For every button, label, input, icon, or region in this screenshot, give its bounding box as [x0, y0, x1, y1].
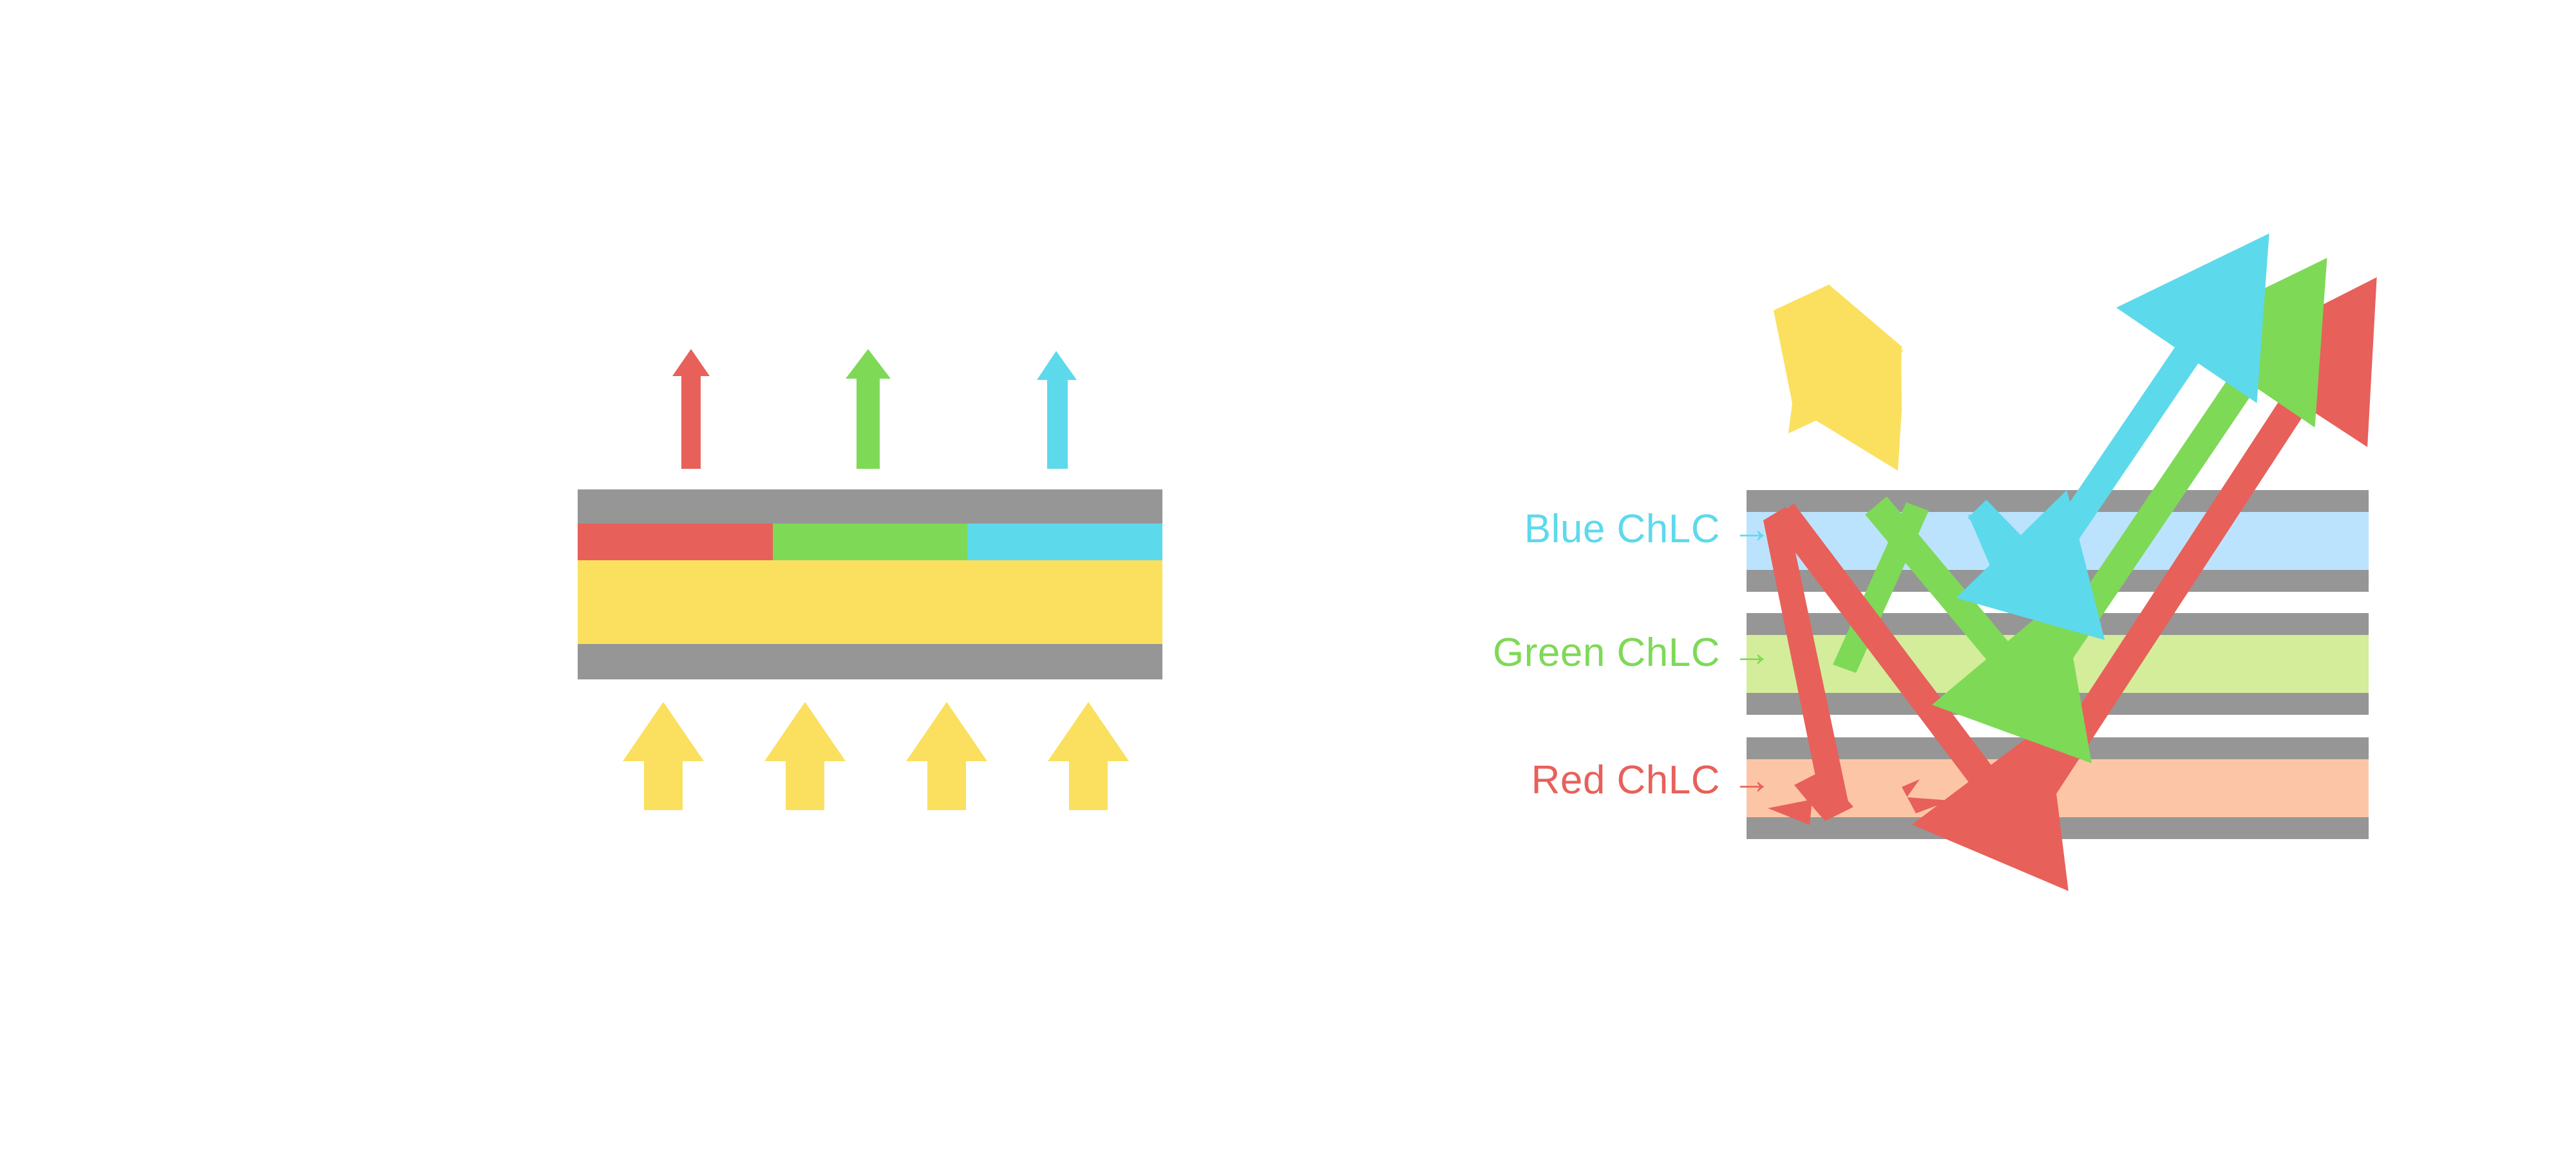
backlight-arrow-3: [906, 702, 987, 810]
figure-canvas: Blue ChLC → Green ChLC → Red ChLC →: [0, 0, 2576, 1154]
red-ray-reflected: [2036, 386, 2306, 799]
blue-filter-segment: [967, 524, 1162, 560]
blue-emission-arrow: [1037, 351, 1077, 469]
yellow-backlight-layer: [578, 560, 1162, 644]
red-emission-arrow: [672, 349, 710, 469]
red-chlc-label-arrow-icon: →: [1732, 758, 1773, 802]
backlight-arrow-4: [1048, 702, 1129, 810]
red-filter-segment: [578, 524, 773, 560]
green-chlc-label-text: Green ChLC: [1493, 630, 1720, 675]
left-emitted-arrows-group: [672, 349, 1077, 469]
left-panel-group: [578, 349, 1162, 810]
red-chlc-label: Red ChLC →: [1437, 757, 1772, 803]
green-chlc-label-arrow-icon: →: [1732, 630, 1773, 675]
top-electrode: [578, 489, 1162, 524]
green-chlc-label: Green ChLC →: [1405, 630, 1772, 676]
red-cell-bottom-electrode: [1747, 817, 2369, 839]
bottom-electrode: [578, 644, 1162, 679]
blue-chlc-label-text: Blue ChLC: [1524, 507, 1720, 551]
blue-chlc-label-arrow-icon: →: [1732, 507, 1773, 551]
backlight-arrow-2: [764, 702, 846, 810]
yellow-backlight-arrows: [623, 702, 1129, 810]
green-cell-bottom-electrode: [1747, 693, 2369, 715]
blue-chlc-label: Blue ChLC →: [1437, 506, 1772, 552]
chlc-stack-diagram: [0, 0, 2576, 1154]
left-layer-stack: [578, 489, 1162, 679]
green-emission-arrow: [846, 349, 891, 469]
red-chlc-label-text: Red ChLC: [1531, 758, 1720, 802]
backlight-arrow-1: [623, 702, 704, 810]
blue-cell-top-electrode: [1747, 490, 2369, 512]
green-filter-segment: [773, 524, 967, 560]
